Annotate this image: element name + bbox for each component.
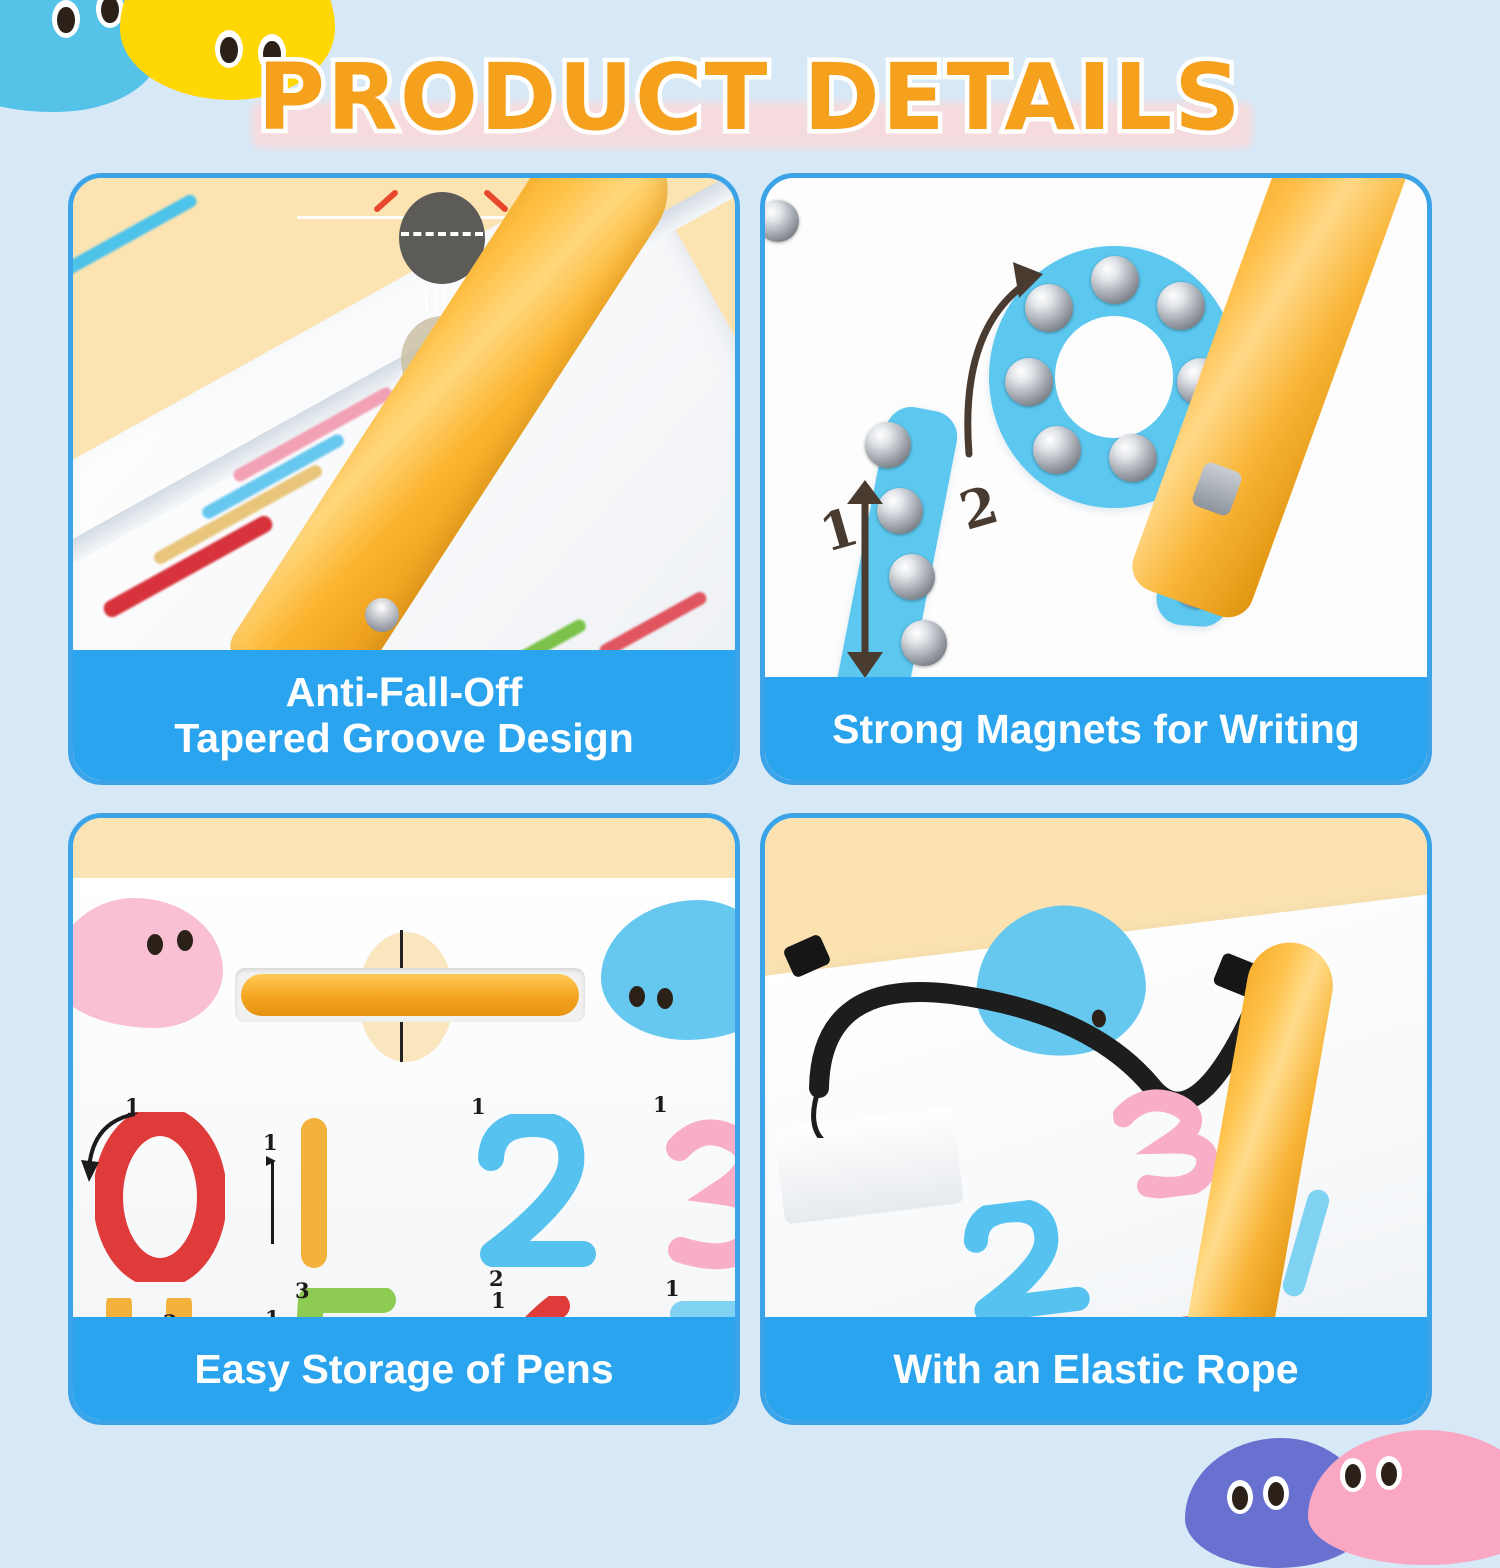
page-title: PRODUCT DETAILS (0, 44, 1500, 152)
traced-digit-1 (301, 1118, 327, 1268)
digit-1-stroke-label: 1 (263, 1130, 278, 1155)
steel-ball (1157, 282, 1205, 330)
panel-1-caption-line-1: Anti-Fall-Off (174, 670, 633, 716)
feature-panel-elastic-rope: With an Elastic Rope (760, 813, 1432, 1425)
traced-digit-3 (661, 1116, 735, 1281)
digit-0-stroke-arrow (81, 1106, 151, 1186)
digit-6-stroke-label: 1 (491, 1288, 506, 1313)
purple-blob-eye-right (1263, 1476, 1289, 1510)
groove-contact-dash (401, 232, 483, 244)
digit-2-stroke-label-1: 1 (471, 1094, 486, 1119)
digit-1-stroke-arrow (271, 1160, 274, 1244)
pink-blob-eye-left (1340, 1458, 1366, 1492)
panel-1-caption: Anti-Fall-Off Tapered Groove Design (71, 650, 737, 782)
page-header: PRODUCT DETAILS (0, 44, 1500, 152)
traced-digit-2 (471, 1114, 601, 1279)
feature-panel-anti-fall-off: Anti-Fall-Off Tapered Groove Design (68, 173, 740, 785)
digit-5-stroke-label-3: 3 (295, 1278, 310, 1303)
steel-ball (865, 422, 911, 468)
panel-2-caption-line-1: Strong Magnets for Writing (832, 707, 1360, 753)
blue-cloud-eye-left (629, 986, 645, 1007)
pink-cloud-eye-left (147, 934, 163, 955)
cyan-blob-eye-left (52, 0, 80, 38)
pink-cloud-eye-right (177, 930, 193, 951)
purple-blob-eye-left (1227, 1480, 1253, 1514)
panel-4-caption: With an Elastic Rope (763, 1317, 1429, 1422)
digit-3-stroke-label: 1 (653, 1092, 668, 1117)
traced-digit-2 (956, 1192, 1110, 1333)
steel-ball (1109, 434, 1157, 482)
stored-magnetic-pen[interactable] (241, 974, 579, 1016)
digit-7-stroke-label: 1 (665, 1276, 680, 1301)
feature-panel-strong-magnets: 1 2 Strong Magnets for Writing (760, 173, 1432, 785)
panel-3-caption: Easy Storage of Pens (71, 1317, 737, 1422)
panel-1-caption-line-2: Tapered Groove Design (174, 716, 633, 762)
pink-blob-decoration (1308, 1430, 1500, 1565)
feature-panel-pen-storage: 1 1 1 2 1 1 2 (68, 813, 740, 1425)
blue-cloud-eye-right (657, 988, 673, 1009)
panel-2-caption: Strong Magnets for Writing (763, 677, 1429, 782)
panel-3-caption-line-1: Easy Storage of Pens (194, 1347, 613, 1393)
steel-ball (1091, 256, 1139, 304)
stroke-arrow-2 (943, 256, 1093, 486)
panel-4-caption-line-1: With an Elastic Rope (893, 1347, 1298, 1393)
pink-blob-eye-right (1376, 1456, 1402, 1490)
